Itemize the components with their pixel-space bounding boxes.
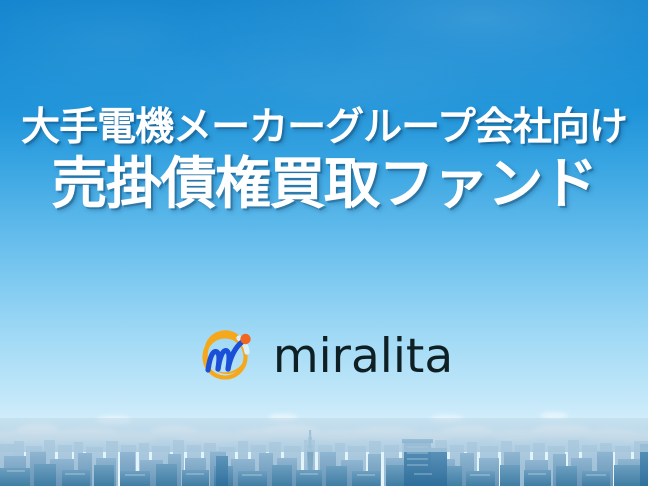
miralita-m-circle-icon [195,326,261,386]
cityscape-skyline [0,418,648,486]
miralita-wordmark: miralita [273,333,453,380]
miralita-logo: miralita [0,326,648,386]
promo-banner: 大手電機メーカーグループ会社向け 売掛債権買取ファンド miralita [0,0,648,486]
sky-gradient-background [0,0,648,486]
headline-block: 大手電機メーカーグループ会社向け 売掛債権買取ファンド [0,108,648,212]
headline-line-2: 売掛債権買取ファンド [0,156,648,212]
headline-line-1: 大手電機メーカーグループ会社向け [0,108,648,147]
